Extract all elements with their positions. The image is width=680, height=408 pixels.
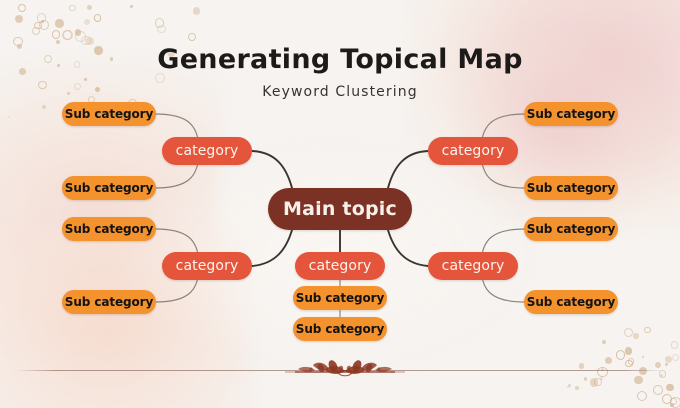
node-category-left-top[interactable]: category [162, 137, 252, 165]
node-subcategory-left-top-1[interactable]: Sub category [62, 102, 156, 126]
node-category-bottom-center[interactable]: category [295, 252, 385, 280]
node-subcategory-bottom-center-1[interactable]: Sub category [293, 286, 387, 310]
node-category-right-top[interactable]: category [428, 137, 518, 165]
node-subcategory-right-bottom-2[interactable]: Sub category [524, 290, 618, 314]
node-subcategory-right-top-2[interactable]: Sub category [524, 176, 618, 200]
node-category-left-bottom[interactable]: category [162, 252, 252, 280]
wire-main-to-right-bottom [388, 230, 428, 266]
node-subcategory-right-top-1[interactable]: Sub category [524, 102, 618, 126]
node-subcategory-right-bottom-1[interactable]: Sub category [524, 217, 618, 241]
mindmap-canvas: Generating Topical Map Keyword Clusterin… [0, 0, 680, 408]
node-subcategory-left-bottom-2[interactable]: Sub category [62, 290, 156, 314]
page-subtitle: Keyword Clustering [0, 84, 680, 100]
wire-main-to-right-top [388, 151, 428, 188]
node-subcategory-left-top-2[interactable]: Sub category [62, 176, 156, 200]
floral-ornament-icon [255, 348, 435, 388]
node-subcategory-left-bottom-1[interactable]: Sub category [62, 217, 156, 241]
wire-main-to-left-bottom [252, 230, 292, 266]
page-title: Generating Topical Map [0, 44, 680, 75]
wire-main-to-left-top [252, 151, 292, 188]
node-subcategory-bottom-center-2[interactable]: Sub category [293, 317, 387, 341]
node-category-right-bottom[interactable]: category [428, 252, 518, 280]
node-main-topic[interactable]: Main topic [268, 188, 412, 230]
